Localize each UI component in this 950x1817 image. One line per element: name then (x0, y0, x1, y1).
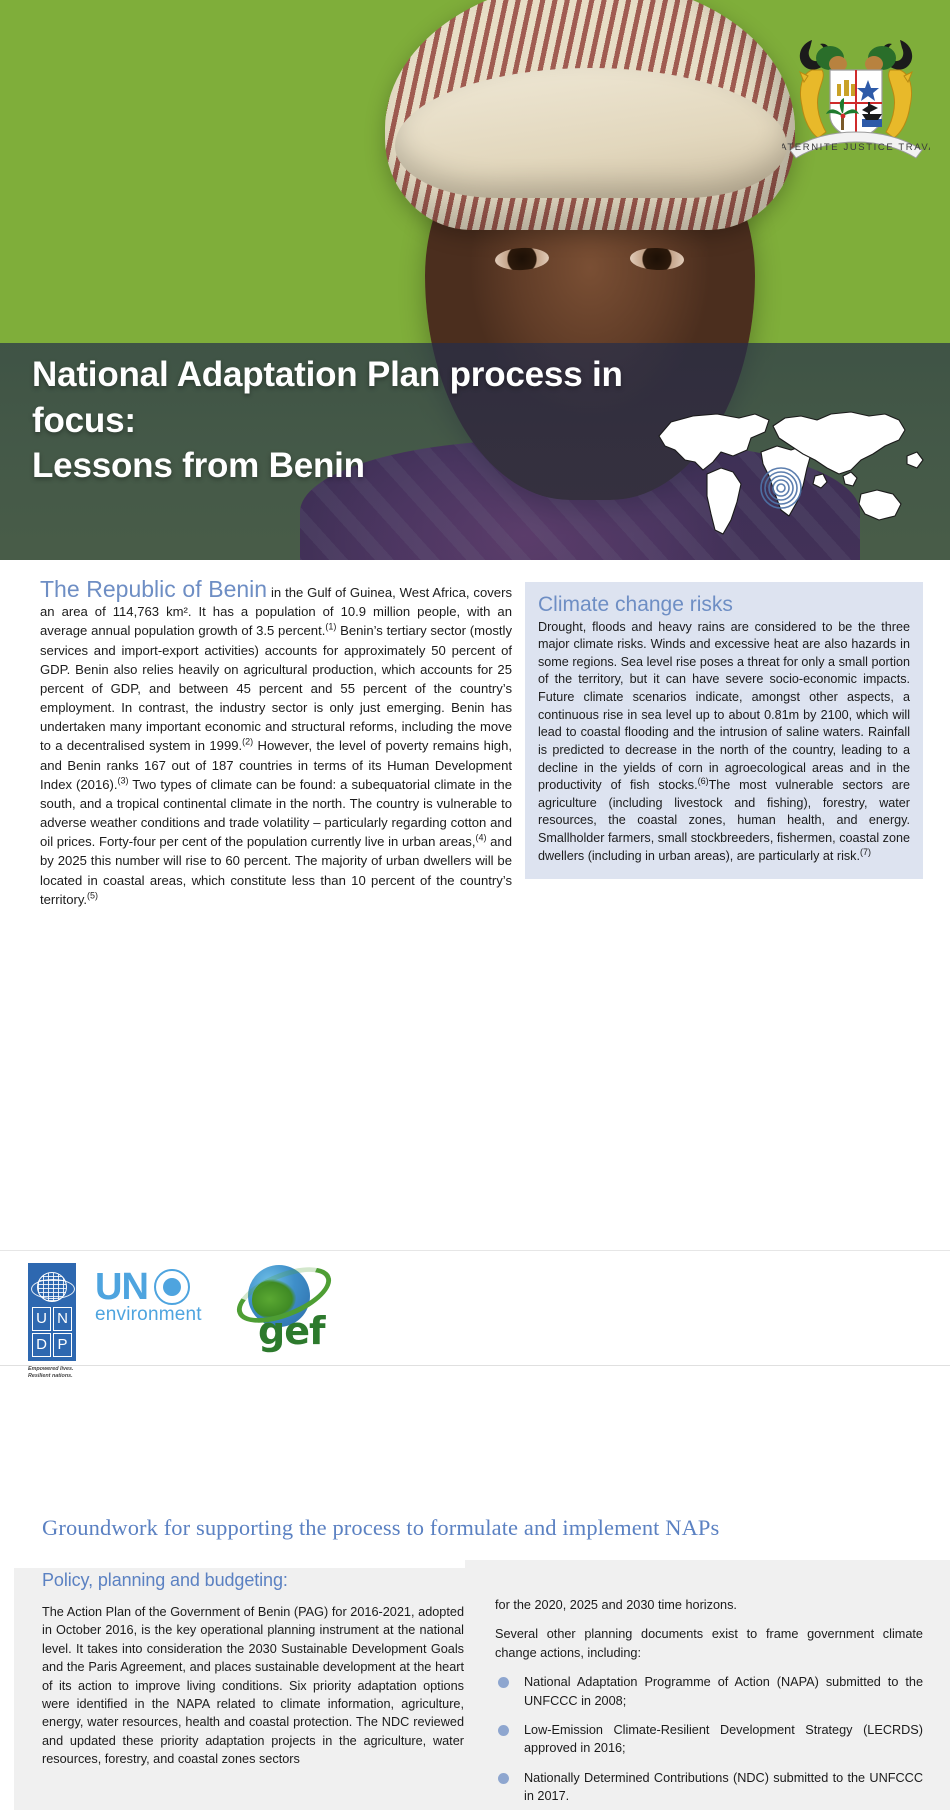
page-title: National Adaptation Plan process in focu… (32, 352, 732, 489)
climate-risks-body: Drought, floods and heavy rains are cons… (538, 619, 910, 866)
list-item: Low-Emission Climate-Resilient Developme… (495, 1721, 923, 1758)
climate-risks-heading: Climate change risks (538, 593, 910, 617)
unep-wordmark-row: UN (95, 1269, 235, 1305)
gef-wordmark: gef (258, 1309, 325, 1353)
page-title-line1: National Adaptation Plan process in focu… (32, 352, 732, 443)
planning-documents-list: National Adaptation Programme of Action … (495, 1673, 923, 1805)
coat-horns (800, 40, 912, 72)
unep-un-text: UN (95, 1269, 148, 1305)
list-item-text: Nationally Determined Contributions (NDC… (524, 1771, 923, 1803)
un-laurel-emblem-icon (154, 1269, 190, 1305)
coat-motto-text: FRATERNITE JUSTICE TRAVAIL (782, 142, 930, 153)
coat-shield (826, 70, 882, 140)
un-globe-icon (37, 1272, 67, 1302)
coat-motto-banner: FRATERNITE JUSTICE TRAVAIL (782, 132, 930, 158)
policy-section-notch (0, 1560, 465, 1568)
intro-heading: The Republic of Benin (40, 576, 267, 602)
unep-environment-text: environment (95, 1304, 235, 1326)
policy-heading: Policy, planning and budgeting: (42, 1570, 288, 1591)
undp-letter-p: P (53, 1333, 72, 1357)
page-title-line2: Lessons from Benin (32, 443, 732, 489)
footer-logos: U N D P Empowered lives. Resilient natio… (0, 1250, 950, 1376)
policy-right-para2: Several other planning documents exist t… (495, 1625, 923, 1662)
groundwork-heading: Groundwork for supporting the process to… (42, 1515, 912, 1541)
undp-letter-n: N (53, 1307, 72, 1331)
policy-right-column: for the 2020, 2025 and 2030 time horizon… (495, 1596, 923, 1817)
undp-letter-d: D (32, 1333, 51, 1357)
list-item-text: Low-Emission Climate-Resilient Developme… (524, 1723, 923, 1755)
list-item: National Adaptation Programme of Action … (495, 1673, 923, 1710)
policy-left-text: The Action Plan of the Government of Ben… (42, 1603, 464, 1769)
bullet-dot-icon (498, 1773, 509, 1784)
hero-banner: National Adaptation Plan process in focu… (0, 0, 950, 560)
subject-headwrap (385, 0, 795, 230)
undp-tagline: Empowered lives. Resilient nations. (28, 1366, 76, 1381)
footer-divider (0, 1365, 950, 1366)
intro-body: in the Gulf of Guinea, West Africa, cove… (40, 585, 512, 907)
bullet-dot-icon (498, 1725, 509, 1736)
un-environment-logo: UN environment (95, 1269, 235, 1326)
benin-coat-of-arms: FRATERNITE JUSTICE TRAVAIL (782, 14, 930, 166)
undp-letter-u: U (32, 1307, 51, 1331)
bullet-dot-icon (498, 1677, 509, 1688)
climate-risks-box: Climate change risks Drought, floods and… (525, 582, 923, 879)
intro-paragraph: The Republic of Benin in the Gulf of Gui… (40, 578, 512, 909)
undp-logo-box: U N D P (28, 1263, 76, 1361)
undp-logo: U N D P Empowered lives. Resilient natio… (28, 1263, 76, 1381)
list-item: Nationally Determined Contributions (NDC… (495, 1769, 923, 1806)
policy-section-left-edge (0, 1560, 14, 1810)
world-map-graphic (655, 398, 927, 548)
list-item-text: National Adaptation Programme of Action … (524, 1675, 923, 1707)
policy-right-para1: for the 2020, 2025 and 2030 time horizon… (495, 1596, 923, 1614)
intro-column: The Republic of Benin in the Gulf of Gui… (40, 578, 512, 909)
undp-letter-grid: U N D P (32, 1307, 72, 1357)
